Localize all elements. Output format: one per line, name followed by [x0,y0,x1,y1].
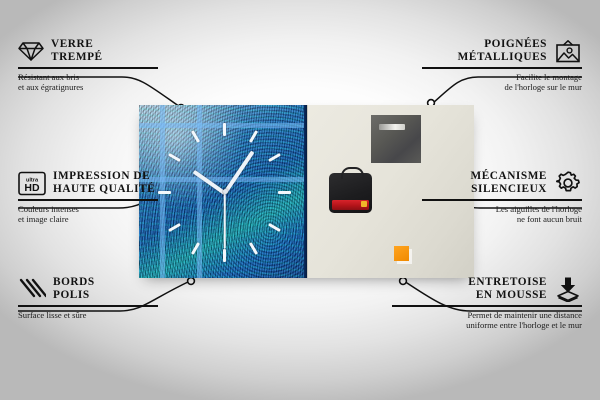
feature-poignees-metalliques: POIGNÉES MÉTALLIQUES Facilite le montage… [422,38,582,93]
feature-desc: Résistant aux bris et aux égratignures [18,72,158,93]
feature-rule [392,305,582,307]
arrow-down-layer-icon [554,276,582,302]
feature-title: MÉCANISME SILENCIEUX [471,170,548,196]
feature-rule [422,199,582,201]
infographic-canvas: VERRE TREMPÉ Résistant aux bris et aux é… [0,0,600,400]
feature-desc: Couleurs intenses et image claire [18,204,158,225]
artwork-gridline [197,105,202,278]
feature-title: POIGNÉES MÉTALLIQUES [458,38,547,64]
feature-mecanisme-silencieux: MÉCANISME SILENCIEUX Les aiguilles de l'… [422,170,582,225]
battery-terminal [361,201,367,207]
quartz-mechanism-box [329,173,372,213]
clock-second-hand [224,193,226,249]
feature-bords-polis: BORDS POLIS Surface lisse et sûre [18,276,158,320]
gear-icon [554,170,582,196]
feature-impression-haute-qualite: ultra HD IMPRESSION DE HAUTE QUALITÉ Cou… [18,170,158,225]
feature-desc: Permet de maintenir une distance uniform… [392,310,582,331]
polished-edges-icon [18,277,46,301]
clock-tick [223,249,226,262]
svg-text:HD: HD [24,182,40,194]
feature-title: BORDS POLIS [53,276,95,302]
clock-center-hub [223,189,228,194]
ultra-hd-icon: ultra HD [18,171,46,196]
clock-tick [158,191,171,194]
feature-title: VERRE TREMPÉ [51,38,103,64]
clock-front-panel [139,105,307,278]
mechanism-hook [341,167,364,179]
clock-tick [278,191,291,194]
foam-spacer [394,246,409,261]
feature-title: IMPRESSION DE HAUTE QUALITÉ [53,170,155,196]
feature-desc: Facilite le montage de l'horloge sur le … [422,72,582,93]
picture-frame-icon [554,39,582,64]
diamond-icon [18,40,44,62]
feature-desc: Surface lisse et sûre [18,310,158,320]
feature-rule [18,305,158,307]
feature-rule [422,67,582,69]
feature-verre-trempe: VERRE TREMPÉ Résistant aux bris et aux é… [18,38,158,93]
feature-title: ENTRETOISE EN MOUSSE [468,276,547,302]
artwork-gridline [139,177,307,182]
feature-rule [18,67,158,69]
feature-desc: Les aiguilles de l'horloge ne font aucun… [422,204,582,225]
clock-tick [223,123,226,136]
feature-rule [18,199,158,201]
hanger-slot [379,124,405,130]
wire-dot-bords-polis [188,278,195,285]
feature-entretoise-en-mousse: ENTRETOISE EN MOUSSE Permet de maintenir… [392,276,582,331]
battery [332,200,369,210]
metal-hanger-bracket [371,115,421,163]
